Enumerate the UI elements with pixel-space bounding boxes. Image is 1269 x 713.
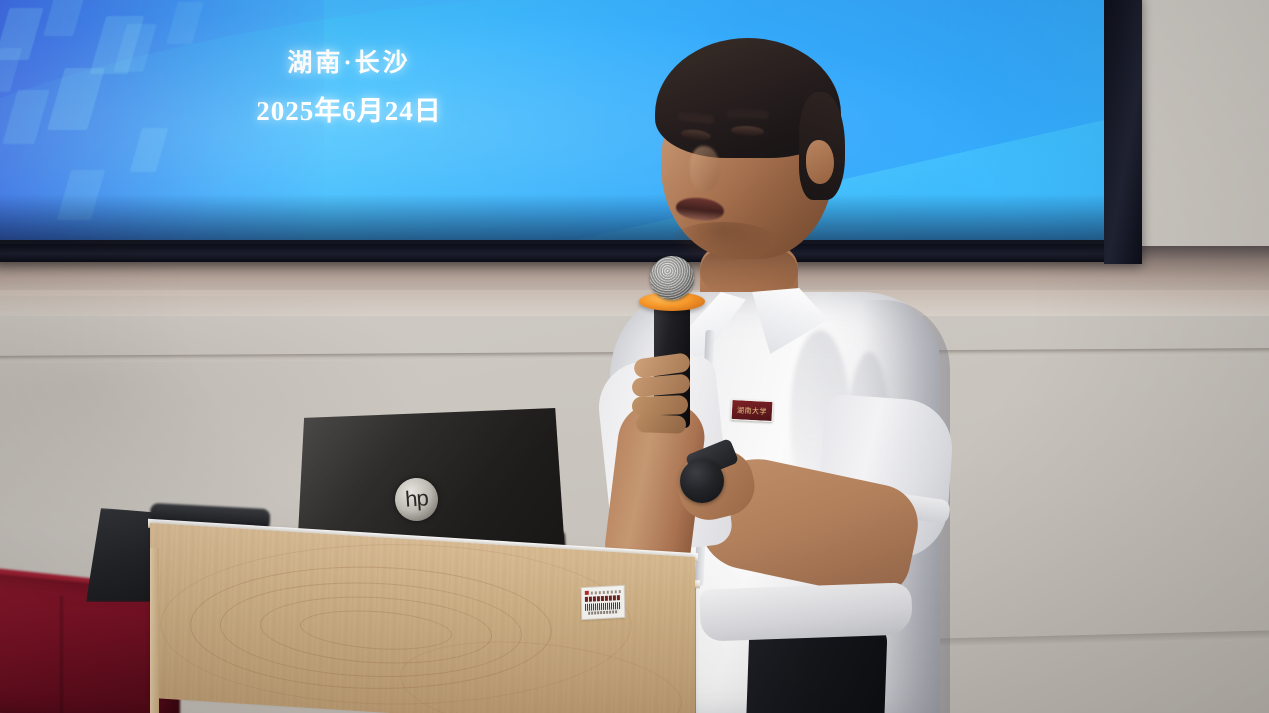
- nose: [690, 146, 720, 192]
- podium-left-edge: [150, 548, 159, 713]
- wrist-watch[interactable]: [680, 459, 724, 503]
- chin-shadow: [668, 222, 778, 262]
- podium-asset-label: [581, 585, 626, 620]
- finger: [632, 395, 689, 416]
- label-title-text: [585, 595, 621, 602]
- microphone-head-icon: [650, 256, 694, 300]
- ear: [806, 140, 834, 184]
- name-badge: 湖南大学: [730, 399, 773, 422]
- name-badge-text: 湖南大学: [737, 405, 767, 417]
- label-logo-icon: [585, 591, 589, 595]
- eyebrow-right: [727, 109, 769, 118]
- conference-photo-scene: 湖南·长沙 2025年6月24日 hp: [0, 0, 1269, 713]
- finger: [636, 414, 687, 434]
- label-header-text: [591, 590, 621, 595]
- shirt-hem: [699, 582, 913, 641]
- label-subtext: [588, 610, 618, 615]
